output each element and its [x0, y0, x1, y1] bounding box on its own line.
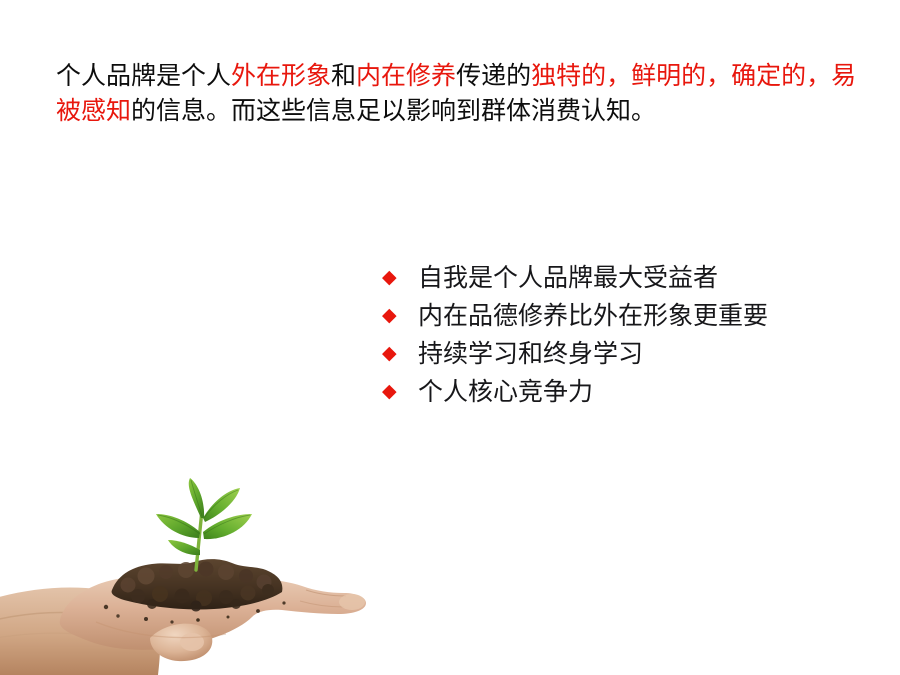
- header-run-4-highlight: 内在修养: [356, 61, 456, 90]
- hand-holding-seedling-photo: [0, 470, 420, 675]
- header-run-3: 和: [331, 61, 356, 90]
- list-item: ◆ 自我是个人品牌最大受益者: [381, 258, 851, 296]
- list-item-label: 个人核心竞争力: [418, 379, 593, 404]
- list-item-label: 自我是个人品牌最大受益者: [418, 265, 718, 290]
- header-run-2-highlight: 外在形象: [231, 61, 331, 90]
- list-item-label: 持续学习和终身学习: [418, 341, 643, 366]
- fingertip-highlight: [339, 594, 365, 610]
- bullet-list: ◆ 自我是个人品牌最大受益者 ◆ 内在品德修养比外在形象更重要 ◆ 持续学习和终…: [381, 258, 851, 410]
- thumbnail: [180, 633, 204, 651]
- header-run-1: 个人品牌是个人: [56, 61, 231, 90]
- diamond-bullet-icon: ◆: [381, 344, 418, 363]
- list-item: ◆ 内在品德修养比外在形象更重要: [381, 296, 851, 334]
- header-run-5: 传递的: [456, 61, 531, 90]
- diamond-bullet-icon: ◆: [381, 268, 418, 287]
- diamond-bullet-icon: ◆: [381, 306, 418, 325]
- list-item-label: 内在品德修养比外在形象更重要: [418, 303, 768, 328]
- header-paragraph: 个人品牌是个人外在形象和内在修养传递的独特的，鲜明的，确定的，易被感知的信息。而…: [56, 58, 862, 128]
- diamond-bullet-icon: ◆: [381, 382, 418, 401]
- list-item: ◆ 个人核心竞争力: [381, 372, 851, 410]
- slide-canvas: 个人品牌是个人外在形象和内在修养传递的独特的，鲜明的，确定的，易被感知的信息。而…: [0, 0, 900, 675]
- list-item: ◆ 持续学习和终身学习: [381, 334, 851, 372]
- header-run-7: 的信息。而这些信息足以影响到群体消费认知。: [131, 96, 656, 125]
